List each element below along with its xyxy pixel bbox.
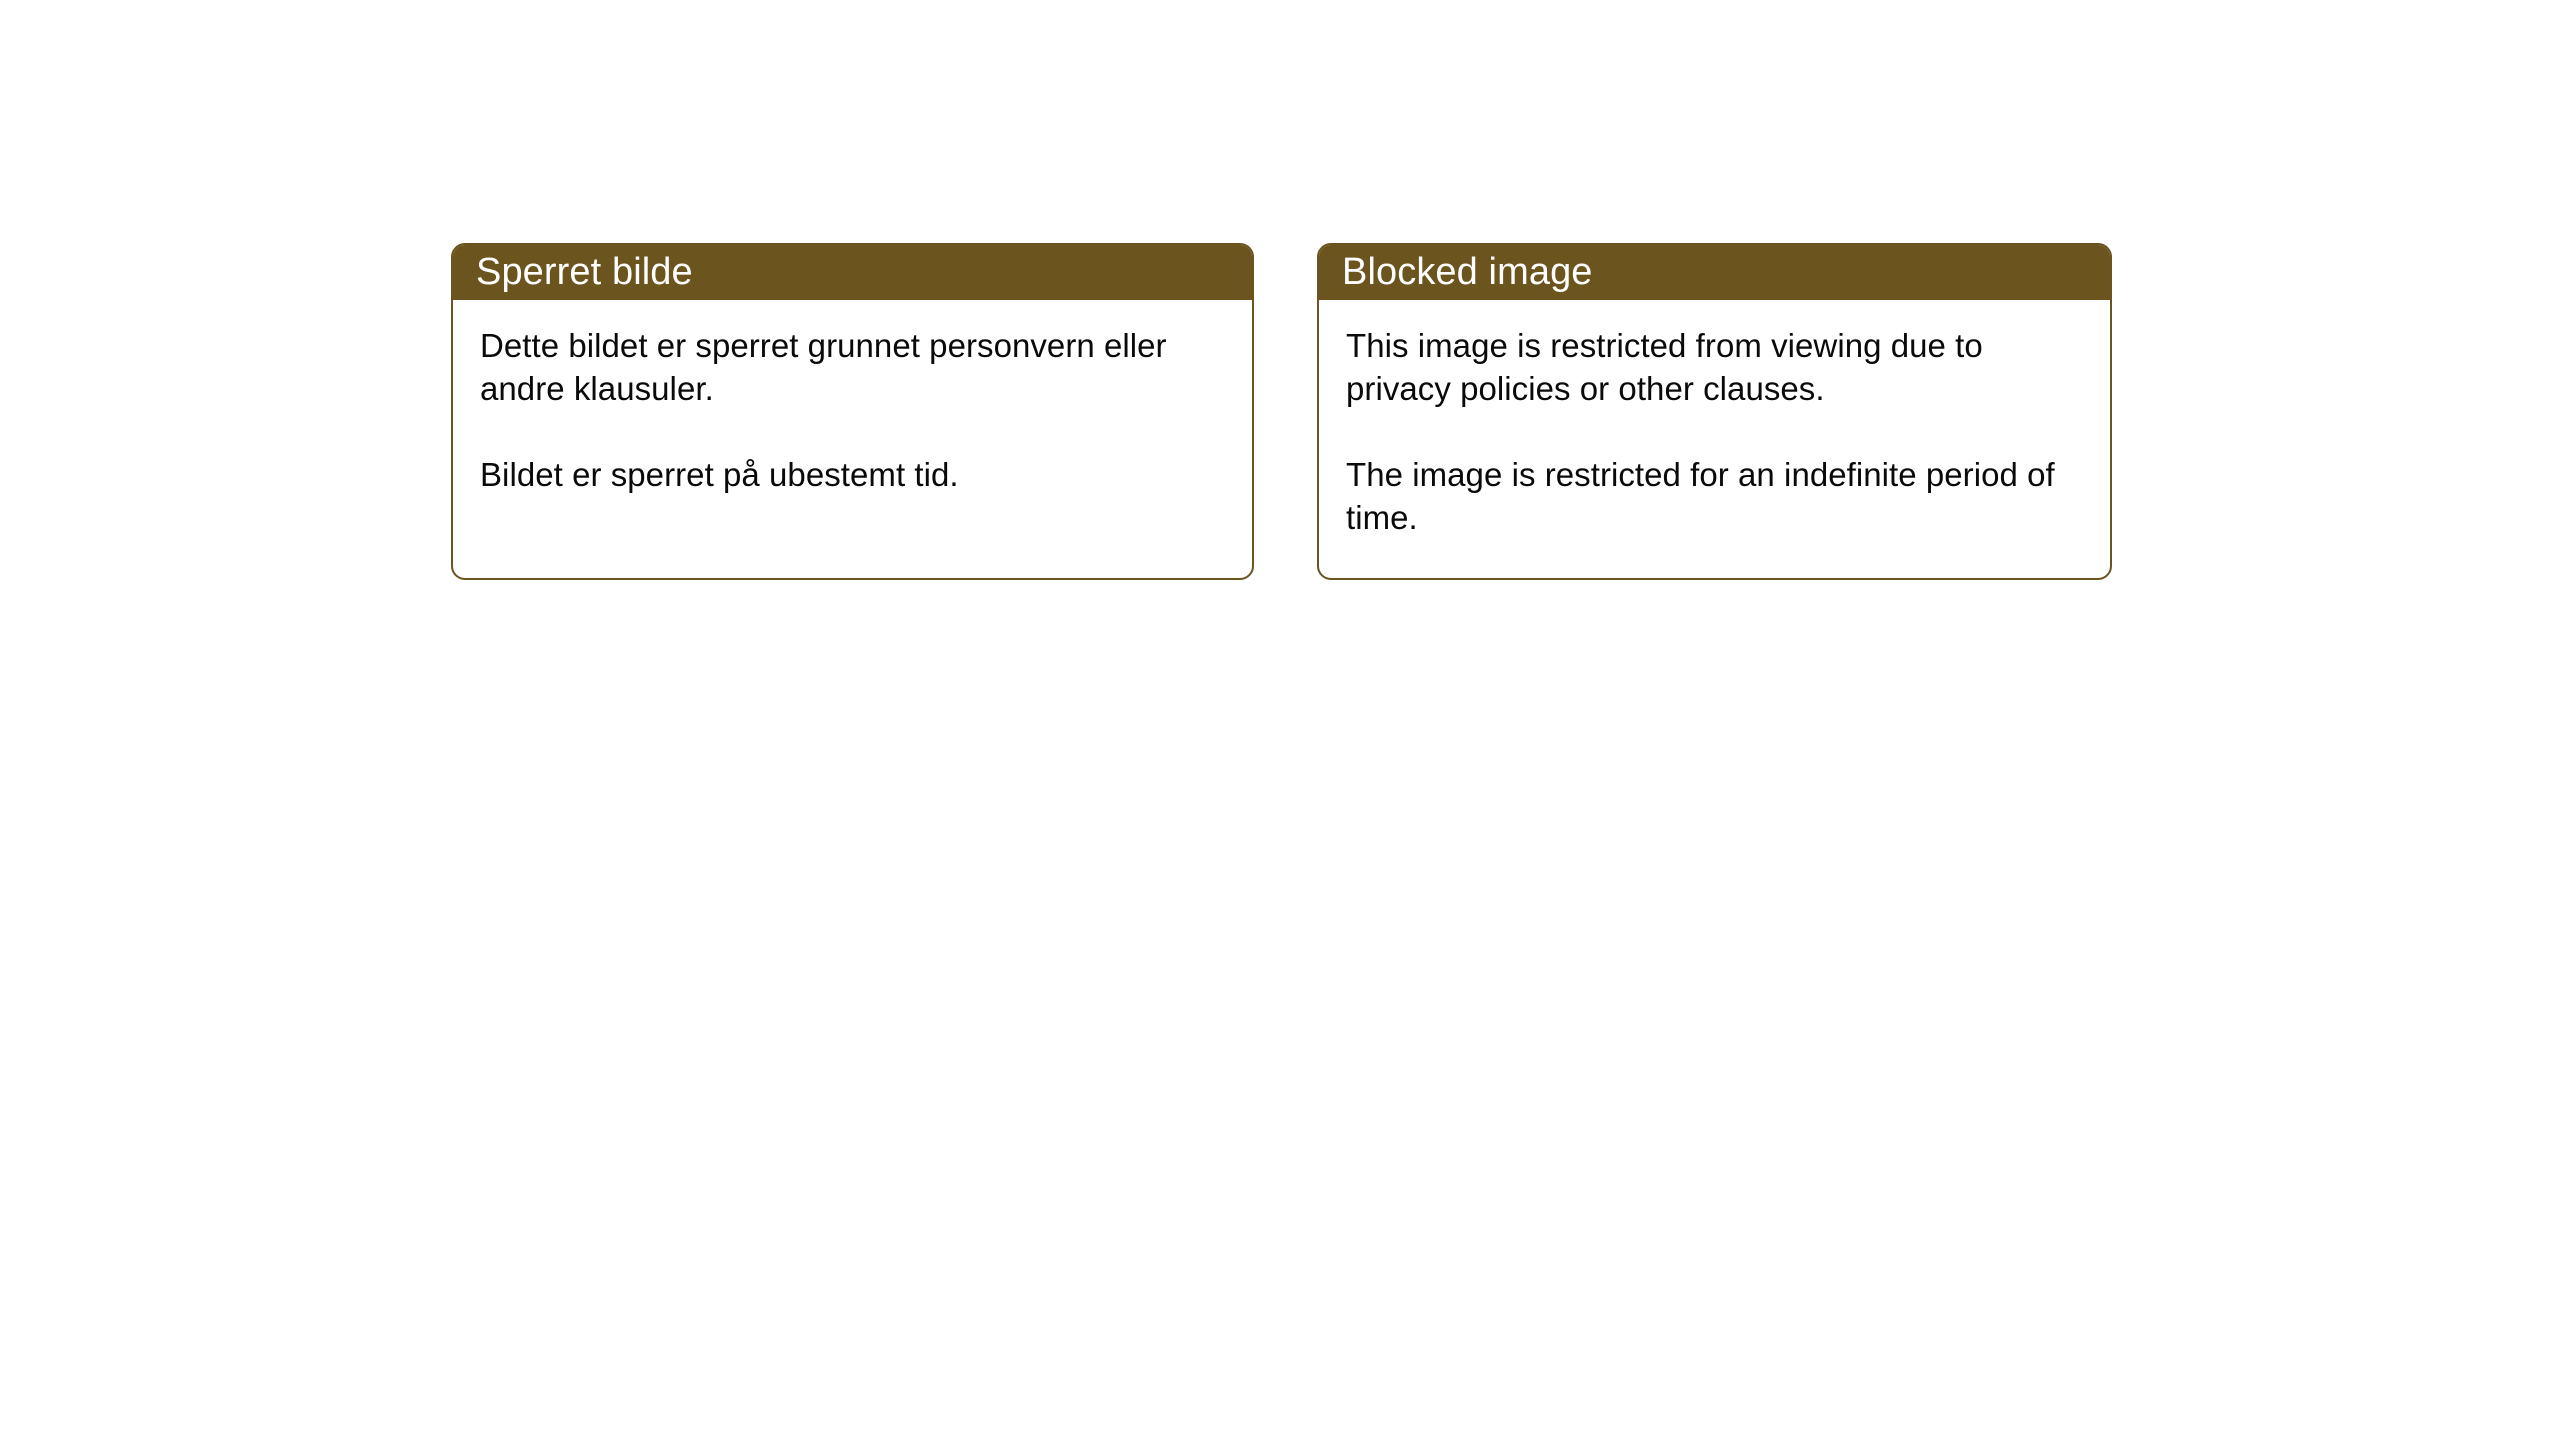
page-root: Sperret bilde Dette bildet er sperret gr…: [0, 0, 2560, 1440]
card-body-english: This image is restricted from viewing du…: [1319, 300, 2110, 539]
blocked-image-notice-card-norwegian: Sperret bilde Dette bildet er sperret gr…: [451, 243, 1254, 580]
card-header-norwegian: Sperret bilde: [451, 243, 1254, 300]
card-title-english: Blocked image: [1342, 250, 1593, 294]
card-paragraph-duration-english: The image is restricted for an indefinit…: [1346, 453, 2082, 539]
blocked-image-notice-card-english: Blocked image This image is restricted f…: [1317, 243, 2112, 580]
card-paragraph-reason-english: This image is restricted from viewing du…: [1346, 324, 2082, 410]
card-paragraph-reason-norwegian: Dette bildet er sperret grunnet personve…: [480, 324, 1224, 410]
card-paragraph-duration-norwegian: Bildet er sperret på ubestemt tid.: [480, 453, 1224, 496]
card-header-english: Blocked image: [1317, 243, 2112, 300]
card-body-norwegian: Dette bildet er sperret grunnet personve…: [453, 300, 1252, 496]
card-title-norwegian: Sperret bilde: [476, 250, 693, 294]
